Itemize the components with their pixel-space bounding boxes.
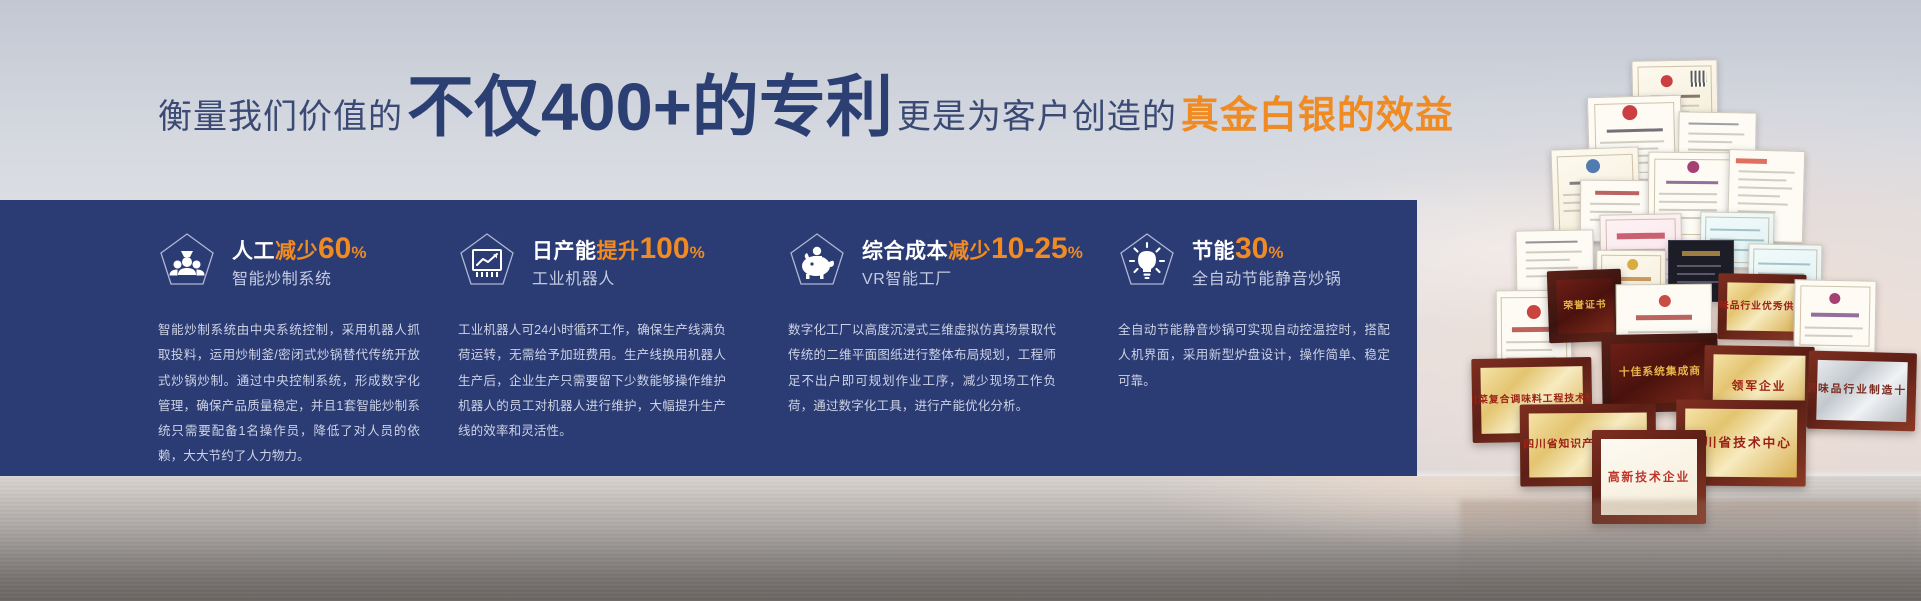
certificate-stack-reflection <box>1460 500 1921 600</box>
feature-item-labor: 人工减少60% 智能炒制系统 智能炒制系统由中央系统控制，采用机器人抓取投料，运… <box>158 200 458 470</box>
feature-title: 日产能提升100% <box>532 233 705 265</box>
feature-title-emphasis: 提升 <box>597 240 640 263</box>
feature-title-number: 30 <box>1235 232 1268 265</box>
feature-title-number: 100 <box>640 232 690 265</box>
feature-panel-inner: 人工减少60% 智能炒制系统 智能炒制系统由中央系统控制，采用机器人抓取投料，运… <box>158 200 1417 476</box>
feature-subtitle: 工业机器人 <box>532 271 705 289</box>
feature-title: 节能30% <box>1192 233 1341 265</box>
feature-title-prefix: 人工 <box>232 240 275 263</box>
certificate-stack: 荣誉证书 调味品行业优秀供应商 四川省川菜复合调味料工程技术研究中心 十佳系统集… <box>1460 52 1921 522</box>
feature-item-capacity: 日产能提升100% 工业机器人 工业机器人可24小时循环工作，确保生产线满负荷运… <box>458 200 788 470</box>
feature-item-energy: 节能30% 全自动节能静音炒锅 全自动节能静音炒锅可实现自动控温控时，搭配人机界… <box>1118 200 1417 470</box>
feature-text: 日产能提升100% 工业机器人 <box>532 231 705 289</box>
award-plaque: 中国调味品行业制造十强企业 <box>1807 351 1917 432</box>
feature-subtitle: 智能炒制系统 <box>232 271 367 289</box>
certificate-paper <box>1793 279 1876 352</box>
feature-title-unit: % <box>1268 243 1284 262</box>
award-plaque-text: 荣誉证书 <box>1563 299 1607 313</box>
feature-subtitle: 全自动节能静音炒锅 <box>1192 271 1341 289</box>
feature-item-cost: 综合成本减少10-25% VR智能工厂 数字化工厂以高度沉浸式三维虚拟仿真场景取… <box>788 200 1118 470</box>
feature-header: 节能30% 全自动节能静音炒锅 <box>1118 200 1397 292</box>
feature-description: 智能炒制系统由中央系统控制，采用机器人抓取投料，运用炒制釜/密闭式炒锅替代传统开… <box>158 318 420 470</box>
feature-text: 节能30% 全自动节能静音炒锅 <box>1192 231 1341 289</box>
award-plaque-text: 十佳系统集成商 <box>1619 366 1702 381</box>
lightbulb-pentagon-icon <box>1118 231 1176 289</box>
headline-tail: 更是为客户创造的 <box>897 100 1177 134</box>
feature-panel: 人工减少60% 智能炒制系统 智能炒制系统由中央系统控制，采用机器人抓取投料，运… <box>0 200 1417 476</box>
feature-title-unit: % <box>1068 243 1084 262</box>
feature-title-prefix: 综合成本 <box>862 240 948 263</box>
people-pentagon-icon <box>158 231 216 289</box>
headline-emphasis: 不仅400+的专利 <box>403 74 897 141</box>
award-plaque-text: 高新技术企业 <box>1608 470 1690 485</box>
piggy-bank-pentagon-icon <box>788 231 846 289</box>
chart-board-pentagon-icon <box>458 231 516 289</box>
feature-title-unit: % <box>351 243 367 262</box>
promo-banner: 衡量我们价值的 不仅400+的专利 更是为客户创造的 真金白银的效益 <box>0 0 1921 601</box>
feature-title-number: 60 <box>318 232 351 265</box>
feature-title-prefix: 日产能 <box>532 240 597 263</box>
feature-title-unit: % <box>690 243 706 262</box>
feature-description: 工业机器人可24小时循环工作，确保生产线满负荷运转，无需给予加班费用。生产线换用… <box>458 318 726 444</box>
feature-list: 人工减少60% 智能炒制系统 智能炒制系统由中央系统控制，采用机器人抓取投料，运… <box>158 200 1417 470</box>
page-title: 衡量我们价值的 不仅400+的专利 更是为客户创造的 真金白银的效益 <box>158 74 1454 148</box>
feature-title-emphasis: 减少 <box>275 240 318 263</box>
feature-description: 数字化工厂以高度沉浸式三维虚拟仿真场景取代传统的二维平面图纸进行整体布局规划，工… <box>788 318 1056 419</box>
feature-header: 日产能提升100% 工业机器人 <box>458 200 768 292</box>
award-plaque-text: 中国调味品行业制造十强企业 <box>1807 382 1917 400</box>
feature-text: 综合成本减少10-25% VR智能工厂 <box>862 231 1083 289</box>
feature-header: 综合成本减少10-25% VR智能工厂 <box>788 200 1098 292</box>
feature-title: 人工减少60% <box>232 233 367 265</box>
feature-description: 全自动节能静音炒锅可实现自动控温控时，搭配人机界面，采用新型炉盘设计，操作简单、… <box>1118 318 1390 394</box>
feature-subtitle: VR智能工厂 <box>862 271 1083 289</box>
headline-lead: 衡量我们价值的 <box>158 100 403 134</box>
feature-title-prefix: 节能 <box>1192 240 1235 263</box>
feature-title-number: 10-25 <box>991 232 1068 265</box>
award-plaque: 荣誉证书 <box>1547 269 1623 344</box>
award-plaque-text: 领军企业 <box>1731 378 1786 394</box>
feature-header: 人工减少60% 智能炒制系统 <box>158 200 438 292</box>
feature-text: 人工减少60% 智能炒制系统 <box>232 231 367 289</box>
headline-accent: 真金白银的效益 <box>1177 97 1454 135</box>
feature-title: 综合成本减少10-25% <box>862 233 1083 265</box>
feature-title-emphasis: 减少 <box>948 240 991 263</box>
